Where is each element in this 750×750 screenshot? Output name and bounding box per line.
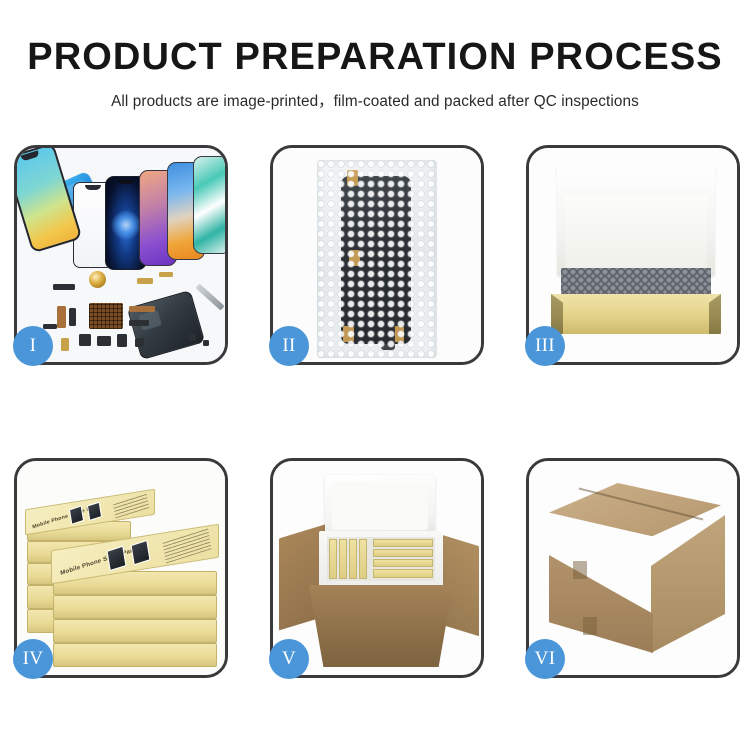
- step-badge-3: III: [525, 326, 565, 366]
- sealed-carton: [543, 483, 729, 659]
- step-5-photo: [273, 461, 481, 675]
- phone-screen-teal: [193, 156, 225, 254]
- step-badge-4: IV: [13, 639, 53, 679]
- process-step-3: III: [526, 145, 740, 365]
- spare-part: [189, 334, 196, 341]
- box-spec-text: [163, 528, 212, 564]
- spare-part: [117, 334, 127, 347]
- step-4-photo: Mobile Phone Spare Parts Mobile Phone Sp…: [17, 461, 225, 675]
- stacked-box: [53, 643, 217, 667]
- styrofoam-lid: [325, 475, 435, 537]
- spare-part: [135, 338, 144, 347]
- grey-foam-padding: [561, 268, 711, 296]
- packed-yellow-box: [359, 539, 367, 579]
- stacked-box: [53, 619, 217, 643]
- tweezers-tool-icon: [195, 283, 224, 310]
- packed-yellow-box: [349, 539, 357, 579]
- spare-part: [97, 336, 111, 346]
- spare-part: [129, 306, 155, 312]
- process-step-1: I: [14, 145, 228, 365]
- box-artwork-screen: [69, 505, 84, 524]
- process-step-6: VI: [526, 458, 740, 678]
- step-1-photo: [17, 148, 225, 362]
- packed-yellow-box: [373, 559, 433, 567]
- process-step-grid: I II: [14, 145, 736, 678]
- speaker-module-icon: [89, 271, 106, 288]
- spare-part: [61, 338, 69, 351]
- box-artwork-screen: [87, 502, 102, 521]
- packed-yellow-box: [373, 569, 433, 578]
- box-stack: Mobile Phone Spare Parts Mobile Phone Sp…: [23, 475, 223, 671]
- process-step-5: V: [270, 458, 484, 678]
- header: PRODUCT PREPARATION PROCESS All products…: [0, 0, 750, 111]
- yellow-box-base: [551, 294, 721, 334]
- page-title: PRODUCT PREPARATION PROCESS: [0, 38, 750, 78]
- box-artwork-screen: [106, 546, 126, 572]
- stacked-box: [53, 595, 217, 619]
- box-spec-text: [113, 492, 149, 518]
- bubble-wrap-bag: [317, 160, 437, 358]
- packed-yellow-box: [339, 539, 347, 579]
- packed-yellow-box: [329, 539, 337, 579]
- spare-part: [53, 284, 75, 290]
- spare-part: [79, 334, 91, 346]
- carton-tape-patch: [583, 617, 597, 635]
- spare-part: [203, 340, 209, 346]
- step-badge-1: I: [13, 326, 53, 366]
- spare-part: [69, 308, 76, 326]
- carton-front-face: [549, 513, 653, 653]
- step-2-photo: [273, 148, 481, 362]
- ic-chip-part: [89, 303, 123, 329]
- step-3-photo: [529, 148, 737, 362]
- bubble-texture: [317, 160, 437, 358]
- packed-boxes-area: [327, 537, 435, 581]
- step-badge-5: V: [269, 639, 309, 679]
- carton-body: [309, 585, 453, 667]
- page-subtitle: All products are image-printed，film-coat…: [0, 89, 750, 111]
- box-artwork-screen: [130, 540, 150, 566]
- spare-part: [43, 324, 57, 329]
- process-step-4: Mobile Phone Spare Parts Mobile Phone Sp…: [14, 458, 228, 678]
- white-foam-lid: [557, 166, 715, 276]
- spare-part: [159, 272, 173, 277]
- product-preparation-poster: PRODUCT PREPARATION PROCESS All products…: [0, 0, 750, 750]
- packed-yellow-box: [373, 539, 433, 547]
- step-badge-6: VI: [525, 639, 565, 679]
- spare-part: [57, 306, 66, 328]
- packed-yellow-box: [373, 549, 433, 557]
- spare-part: [137, 278, 153, 284]
- spare-part: [129, 320, 149, 326]
- process-step-2: II: [270, 145, 484, 365]
- step-badge-2: II: [269, 326, 309, 366]
- carton-tape-patch: [573, 561, 587, 579]
- step-6-photo: [529, 461, 737, 675]
